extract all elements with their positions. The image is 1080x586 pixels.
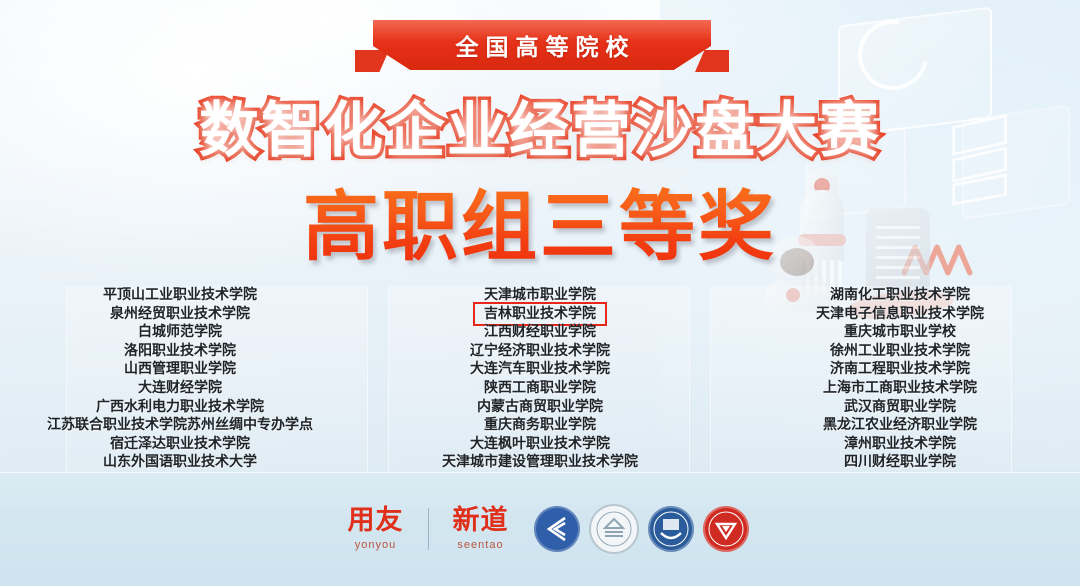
brand-name-en: seentao <box>457 539 503 551</box>
brand-divider <box>428 508 429 550</box>
school-column: 平顶山工业职业技术学院泉州经贸职业技术学院白城师范学院洛阳职业技术学院山西管理职… <box>0 286 360 472</box>
brand-name-cn: 用友 <box>348 507 404 535</box>
school-name: 江西财经职业学院 <box>481 323 599 342</box>
banner-label: 全国高等院校 <box>373 20 711 70</box>
school-name: 天津电子信息职业技术学院 <box>813 305 987 324</box>
school-name: 辽宁经济职业技术学院 <box>467 342 613 361</box>
school-name: 洛阳职业技术学院 <box>121 342 239 361</box>
school-column: 湖南化工职业技术学院天津电子信息职业技术学院重庆城市职业学校徐州工业职业技术学院… <box>720 286 1080 472</box>
school-name: 重庆城市职业学校 <box>841 323 959 342</box>
school-name: 宿迁泽达职业技术学院 <box>107 435 253 454</box>
school-name: 武汉商贸职业学院 <box>841 398 959 417</box>
school-name: 山东外国语职业技术大学 <box>100 453 260 472</box>
school-name: 天津城市建设管理职业技术学院 <box>439 453 641 472</box>
school-name: 四川财经职业学院 <box>841 453 959 472</box>
school-name: 大连财经学院 <box>135 379 225 398</box>
school-column: 天津城市职业学院吉林职业技术学院江西财经职业学院辽宁经济职业技术学院大连汽车职业… <box>360 286 720 472</box>
seal-yonyou-g-icon <box>534 506 580 552</box>
school-name: 陕西工商职业学院 <box>481 379 599 398</box>
ribbon-banner: 全国高等院校 <box>355 20 729 74</box>
school-name: 泉州经贸职业技术学院 <box>107 305 253 324</box>
school-name: 上海市工商职业技术学院 <box>820 379 980 398</box>
footer-logos: 用友yonyou新道seentao <box>0 472 1080 586</box>
brand-name-en: yonyou <box>355 539 396 551</box>
school-name: 济南工程职业技术学院 <box>827 360 973 379</box>
school-name: 徐州工业职业技术学院 <box>827 342 973 361</box>
school-name: 江苏联合职业技术学院苏州丝绸中专办学点 <box>44 416 316 435</box>
school-name: 黑龙江农业经济职业学院 <box>820 416 980 435</box>
brand-row: 用友yonyou新道seentao <box>332 504 749 554</box>
school-lists: 平顶山工业职业技术学院泉州经贸职业技术学院白城师范学院洛阳职业技术学院山西管理职… <box>0 286 1080 472</box>
school-name-highlighted: 吉林职业技术学院 <box>476 305 604 324</box>
school-name: 平顶山工业职业技术学院 <box>100 286 260 305</box>
school-name: 漳州职业技术学院 <box>841 435 959 454</box>
school-name: 大连汽车职业技术学院 <box>467 360 613 379</box>
school-name: 白城师范学院 <box>135 323 225 342</box>
school-name: 山西管理职业学院 <box>121 360 239 379</box>
school-name: 湖南化工职业技术学院 <box>827 286 973 305</box>
brand-name-cn: 新道 <box>453 507 509 535</box>
school-name: 天津城市职业学院 <box>481 286 599 305</box>
brand-logo-seentao: 新道seentao <box>437 507 525 550</box>
school-name: 大连枫叶职业技术学院 <box>467 435 613 454</box>
school-name: 重庆商务职业学院 <box>481 416 599 435</box>
award-subtitle: 高职组三等奖 <box>0 165 1080 275</box>
brand-logo-yonyou: 用友yonyou <box>332 507 420 550</box>
page-title: 数智化企业经营沙盘大赛 <box>0 82 1080 169</box>
seal-university-grey-icon <box>589 504 639 554</box>
seal-association-red-icon <box>703 506 749 552</box>
seal-university-blue-icon <box>648 506 694 552</box>
school-name: 内蒙古商贸职业学院 <box>474 398 606 417</box>
award-poster: 全国高等院校 数智化企业经营沙盘大赛 高职组三等奖 平顶山工业职业技术学院泉州经… <box>0 0 1080 586</box>
school-name: 广西水利电力职业技术学院 <box>93 398 267 417</box>
